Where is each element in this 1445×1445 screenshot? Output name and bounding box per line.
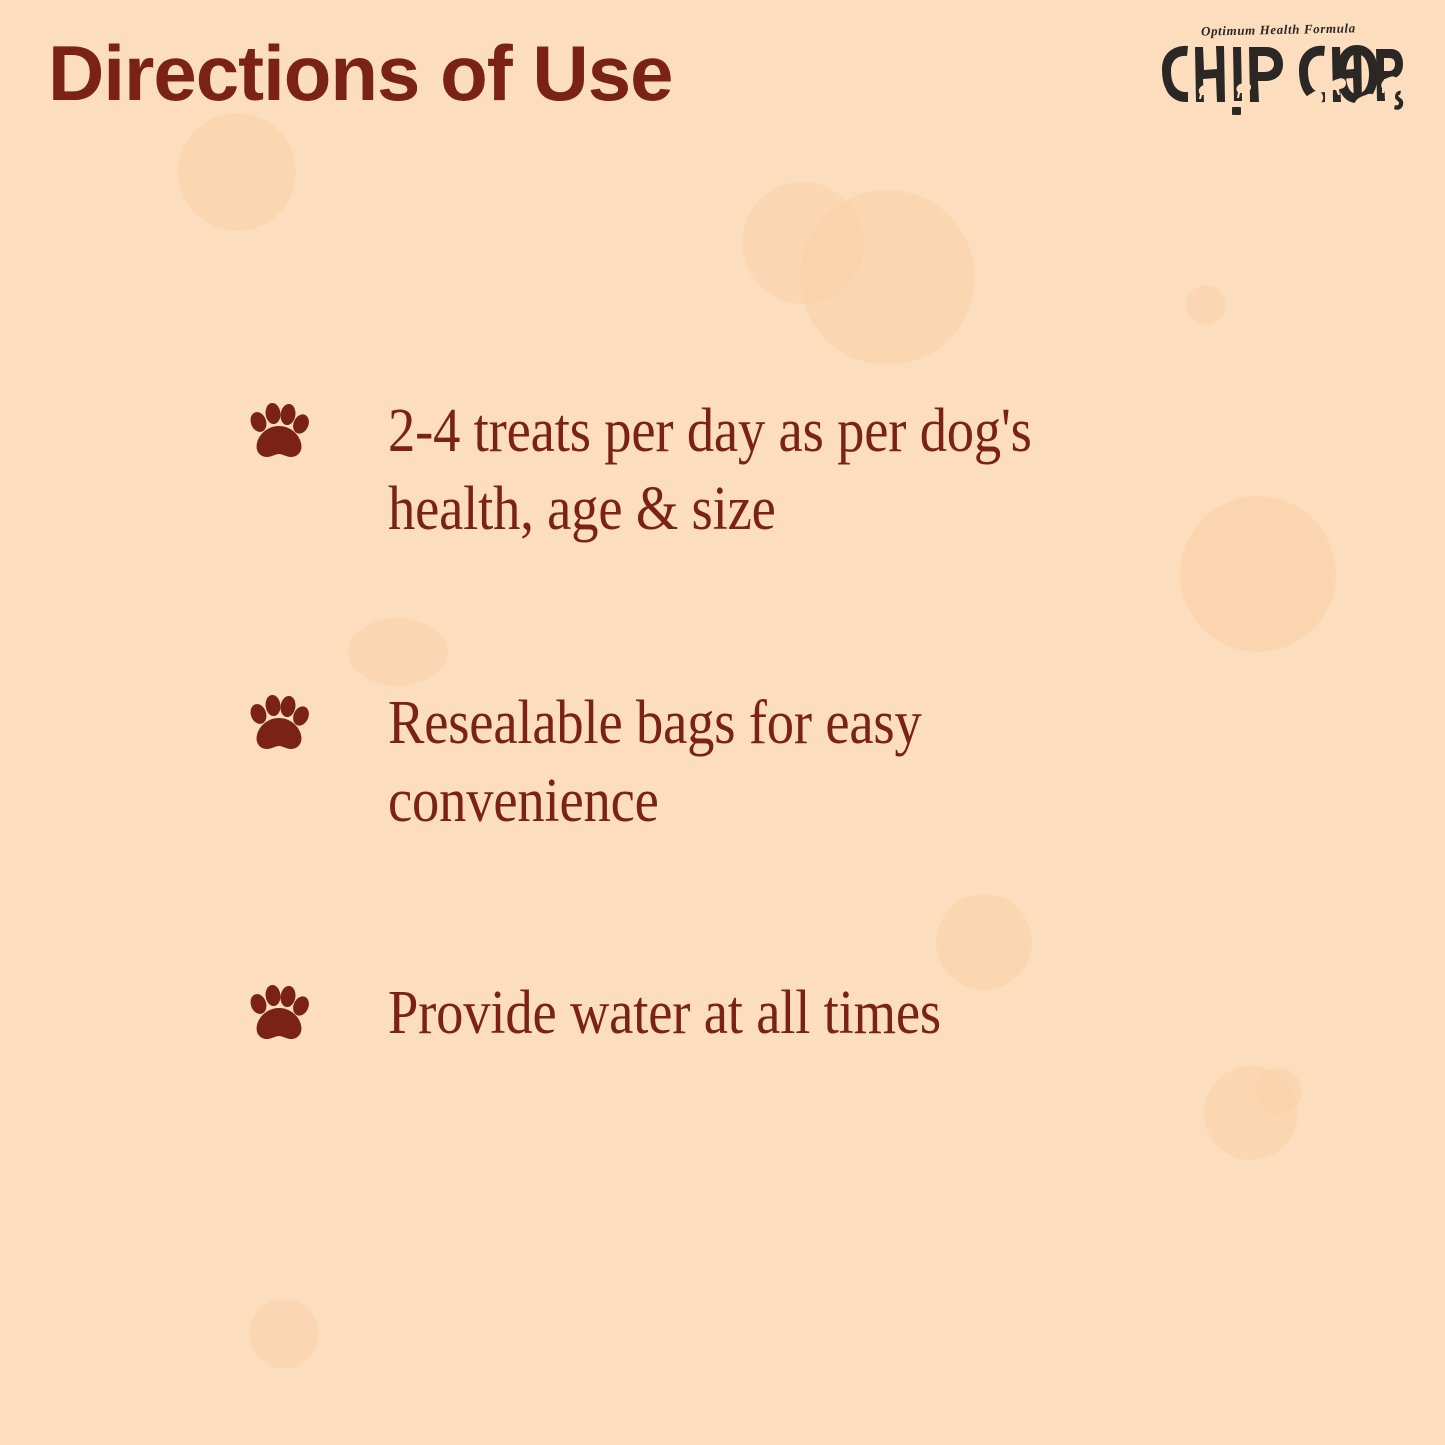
direction-text: Provide water at all times <box>388 974 941 1052</box>
decorative-circle <box>1256 1068 1302 1114</box>
poster-header: Directions of Use Optimum Health Formula <box>0 0 1445 150</box>
direction-text: 2-4 treats per day as per dog's health, … <box>388 392 1057 548</box>
paw-print-icon <box>248 984 310 1046</box>
decorative-circle <box>742 182 864 304</box>
decorative-circle <box>800 190 975 365</box>
directions-list: 2-4 treats per day as per dog's health, … <box>248 392 1148 1064</box>
list-item: Provide water at all times <box>248 974 1148 1064</box>
decorative-circle <box>1180 496 1336 652</box>
direction-text: Resealable bags for easy convenience <box>388 684 1057 840</box>
list-item: Resealable bags for easy convenience <box>248 684 1148 874</box>
list-item: 2-4 treats per day as per dog's health, … <box>248 392 1148 582</box>
paw-print-icon <box>248 402 310 464</box>
brand-tagline: Optimum Health Formula <box>1200 20 1355 39</box>
brand-wordmark-chip-chops <box>1152 39 1404 123</box>
decorative-circle <box>1186 285 1226 325</box>
decorative-circle <box>1204 1066 1298 1160</box>
brand-logo: Optimum Health Formula <box>1147 22 1409 132</box>
paw-print-icon <box>248 694 310 756</box>
directions-of-use-poster: Directions of Use Optimum Health Formula <box>0 0 1445 1445</box>
page-title: Directions of Use <box>48 34 672 112</box>
decorative-circle <box>249 1299 319 1369</box>
